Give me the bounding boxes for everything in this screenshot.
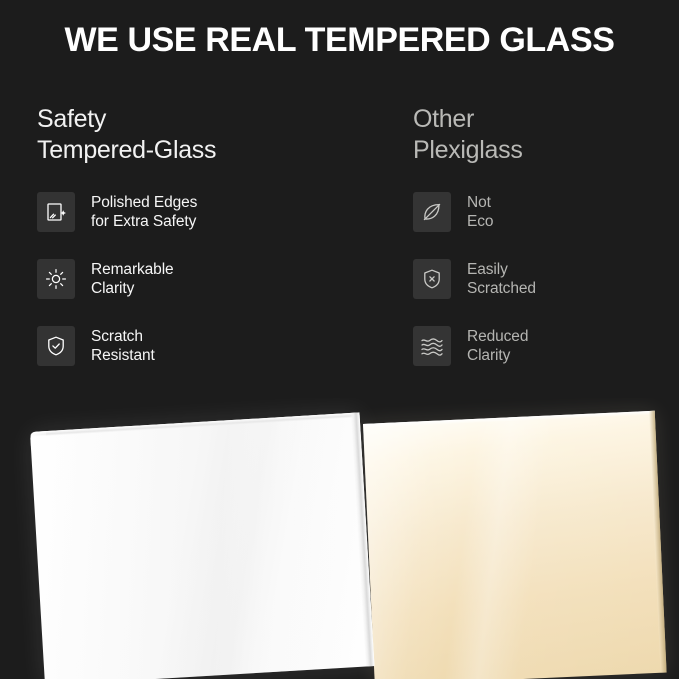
feature-label: Not Eco bbox=[467, 193, 493, 231]
feature-row-scratch-resistant: Scratch Resistant bbox=[37, 324, 327, 368]
comparison-infographic: WE USE REAL TEMPERED GLASS Safety Temper… bbox=[0, 0, 679, 679]
column-title-right: Other Plexiglass bbox=[413, 104, 679, 166]
leaf-slashed-icon bbox=[413, 192, 451, 232]
column-safety-tempered-glass: Safety Tempered-Glass Polished Edges for… bbox=[37, 104, 327, 368]
comparison-columns: Safety Tempered-Glass Polished Edges for… bbox=[0, 104, 679, 400]
feature-row-remarkable-clarity: Remarkable Clarity bbox=[37, 257, 327, 301]
glass-sheen bbox=[30, 412, 374, 679]
shield-check-icon bbox=[37, 326, 75, 366]
sun-clarity-icon bbox=[37, 259, 75, 299]
plexiglass-panel bbox=[363, 411, 667, 679]
glass-corner-highlight bbox=[30, 431, 47, 446]
plexi-sheen bbox=[363, 411, 667, 679]
product-photo bbox=[0, 398, 679, 679]
feature-row-polished-edges: Polished Edges for Extra Safety bbox=[37, 190, 327, 234]
wavy-lines-icon bbox=[413, 326, 451, 366]
feature-label: Remarkable Clarity bbox=[91, 260, 174, 298]
column-title-left: Safety Tempered-Glass bbox=[37, 104, 327, 166]
feature-label: Scratch Resistant bbox=[91, 327, 155, 365]
feature-row-easily-scratched: Easily Scratched bbox=[413, 257, 679, 301]
polished-edges-icon bbox=[37, 192, 75, 232]
feature-row-not-eco: Not Eco bbox=[413, 190, 679, 234]
tempered-glass-panel bbox=[30, 412, 374, 679]
column-other-plexiglass: Other Plexiglass Not Eco Easi bbox=[413, 104, 679, 368]
shield-x-icon bbox=[413, 259, 451, 299]
feature-label: Polished Edges for Extra Safety bbox=[91, 193, 197, 231]
page-title: WE USE REAL TEMPERED GLASS bbox=[0, 18, 679, 62]
feature-label: Reduced Clarity bbox=[467, 327, 528, 365]
feature-row-reduced-clarity: Reduced Clarity bbox=[413, 324, 679, 368]
feature-label: Easily Scratched bbox=[467, 260, 536, 298]
